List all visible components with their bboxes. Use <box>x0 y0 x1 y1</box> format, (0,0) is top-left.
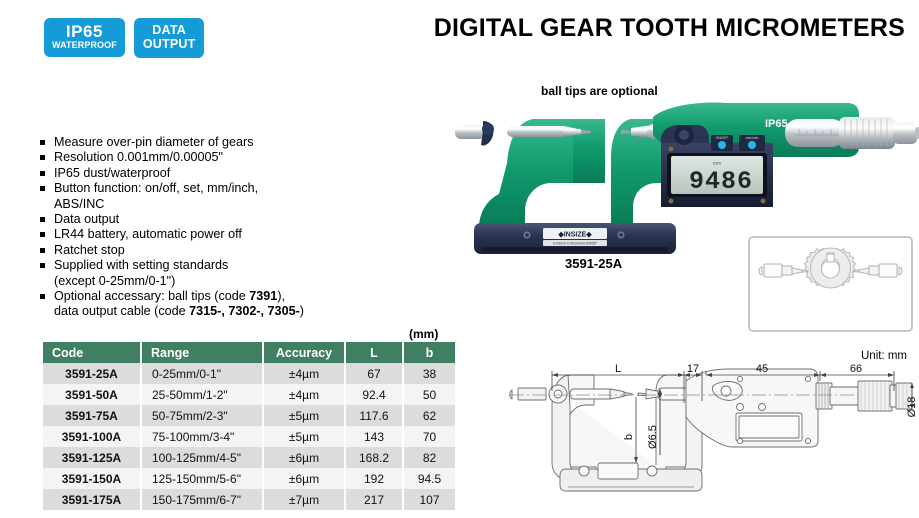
feature-text: Optional accessary: ball tips (code 7391… <box>54 289 285 303</box>
cell-b: 82 <box>403 447 455 468</box>
feature-text: LR44 battery, automatic power off <box>54 227 242 241</box>
page-title: DIGITAL GEAR TOOTH MICROMETERS <box>434 14 905 43</box>
cell-code: 3591-150A <box>43 468 141 489</box>
catalog-page: IP65 WATERPROOF DATA OUTPUT DIGITAL GEAR… <box>0 0 919 513</box>
square-bullet-icon <box>40 186 45 191</box>
list-item: LR44 battery, automatic power off <box>40 227 370 242</box>
cell-accuracy: ±4µm <box>263 363 345 384</box>
cell-accuracy: ±5µm <box>263 405 345 426</box>
cell-l: 92.4 <box>345 384 403 405</box>
feature-list: Measure over-pin diameter of gears Resol… <box>40 135 370 320</box>
ip65-badge: IP65 WATERPROOF <box>44 18 125 57</box>
data-output-badge-line2: OUTPUT <box>143 38 196 52</box>
badge-group: IP65 WATERPROOF DATA OUTPUT <box>44 18 204 58</box>
dim-label-45: 45 <box>756 363 768 375</box>
drawing-unit-label: Unit: mm <box>861 350 907 362</box>
list-item: Resolution 0.001mm/0.00005" <box>40 150 370 165</box>
product-model-label: 3591-25A <box>565 256 622 271</box>
table-row[interactable]: 3591-175A 150-175mm/6-7" ±7µm 217 107 <box>43 489 455 510</box>
feature-text: Button function: on/off, set, mm/inch, <box>54 181 258 195</box>
square-bullet-icon <box>40 140 45 145</box>
cell-range: 75-100mm/3-4" <box>141 426 263 447</box>
table-header-row: Code Range Accuracy L b <box>43 342 455 363</box>
feature-text: Ratchet stop <box>54 243 125 257</box>
table-unit-note: (mm) <box>409 327 438 341</box>
table-row[interactable]: 3591-25A 0-25mm/0-1" ±4µm 67 38 <box>43 363 455 384</box>
square-bullet-icon <box>40 155 45 160</box>
square-bullet-icon <box>40 248 45 253</box>
ip65-badge-subtitle: WATERPROOF <box>52 41 117 51</box>
column-header-l: L <box>345 342 403 363</box>
cell-l: 168.2 <box>345 447 403 468</box>
left-blade <box>507 126 569 137</box>
left-anvil <box>455 125 485 139</box>
cell-accuracy: ±7µm <box>263 489 345 510</box>
feature-text-cont: ABS/INC <box>54 197 370 212</box>
cell-b: 38 <box>403 363 455 384</box>
gear-diagram-svg <box>750 238 911 330</box>
cell-code: 3591-175A <box>43 489 141 510</box>
dim-label-diameter-6-5: Ø6.5 <box>647 425 659 449</box>
table-row[interactable]: 3591-50A 25-50mm/1-2" ±4µm 92.4 50 <box>43 384 455 405</box>
dim-label-diameter-18: Ø18 <box>906 397 918 418</box>
cell-code: 3591-50A <box>43 384 141 405</box>
list-item: Measure over-pin diameter of gears <box>40 135 370 150</box>
cell-b: 70 <box>403 426 455 447</box>
cell-accuracy: ±6µm <box>263 468 345 489</box>
ip65-mark: IP65 <box>765 118 788 130</box>
feature-text: Data output <box>54 212 119 226</box>
gear-icon <box>805 248 856 288</box>
cell-range: 150-175mm/6-7" <box>141 489 263 510</box>
cell-range: 50-75mm/2-3" <box>141 405 263 426</box>
dim-label-b: b <box>623 434 635 440</box>
column-header-b: b <box>403 342 455 363</box>
table-row[interactable]: 3591-100A 75-100mm/3-4" ±5µm 143 70 <box>43 426 455 447</box>
ip65-badge-title: IP65 <box>52 23 117 41</box>
square-bullet-icon <box>40 263 45 268</box>
cell-code: 3591-125A <box>43 447 141 468</box>
square-bullet-icon <box>40 232 45 237</box>
ratchet-stop[interactable] <box>893 122 917 144</box>
list-item: Button function: on/off, set, mm/inch, A… <box>40 181 370 212</box>
gear-application-diagram <box>748 236 913 332</box>
cell-l: 117.6 <box>345 405 403 426</box>
cell-l: 192 <box>345 468 403 489</box>
data-output-badge: DATA OUTPUT <box>134 18 205 58</box>
dim-label-17: 17 <box>687 363 699 375</box>
list-item: Data output <box>40 212 370 227</box>
table-row[interactable]: 3591-125A 100-125mm/4-5" ±6µm 168.2 82 <box>43 447 455 468</box>
list-item: IP65 dust/waterproof <box>40 166 370 181</box>
data-output-badge-line1: DATA <box>143 24 196 38</box>
column-header-range: Range <box>141 342 263 363</box>
product-photo: ◆INSIZE◆ 0-25mm 0.001mm/0.00005" <box>455 95 919 255</box>
dim-label-66: 66 <box>850 363 862 375</box>
feature-text: IP65 dust/waterproof <box>54 166 170 180</box>
cell-l: 67 <box>345 363 403 384</box>
cell-range: 100-125mm/4-5" <box>141 447 263 468</box>
list-item: Supplied with setting standards (except … <box>40 258 370 289</box>
specification-table: Code Range Accuracy L b 3591-25A 0-25mm/… <box>43 342 455 510</box>
cell-code: 3591-25A <box>43 363 141 384</box>
cell-b: 50 <box>403 384 455 405</box>
cell-range: 25-50mm/1-2" <box>141 384 263 405</box>
square-bullet-icon <box>40 171 45 176</box>
cell-b: 107 <box>403 489 455 510</box>
feature-text-cont: data output cable (code 7315-, 7302-, 73… <box>54 304 370 319</box>
cell-accuracy: ±4µm <box>263 384 345 405</box>
dimension-drawing-svg: L 17 45 66 b Ø6.5 Ø18 <box>490 345 919 513</box>
cell-code: 3591-100A <box>43 426 141 447</box>
cell-l: 143 <box>345 426 403 447</box>
lcd-value: 9486 <box>689 167 753 196</box>
square-bullet-icon <box>40 294 45 299</box>
svg-text:mm/inch: mm/inch <box>746 136 759 140</box>
table-row[interactable]: 3591-75A 50-75mm/2-3" ±5µm 117.6 62 <box>43 405 455 426</box>
table-row[interactable]: 3591-150A 125-150mm/5-6" ±6µm 192 94.5 <box>43 468 455 489</box>
cell-range: 125-150mm/5-6" <box>141 468 263 489</box>
cell-l: 217 <box>345 489 403 510</box>
list-item: Optional accessary: ball tips (code 7391… <box>40 289 370 320</box>
list-item: Ratchet stop <box>40 243 370 258</box>
micrometer-illustration: ◆INSIZE◆ 0-25mm 0.001mm/0.00005" <box>455 95 919 255</box>
dim-label-L: L <box>615 363 621 375</box>
brand-text: ◆INSIZE◆ <box>557 232 592 239</box>
feature-text: Supplied with setting standards <box>54 258 228 272</box>
cell-accuracy: ±5µm <box>263 426 345 447</box>
feature-text: Measure over-pin diameter of gears <box>54 135 254 149</box>
dimension-drawing: L 17 45 66 b Ø6.5 Ø18 <box>490 345 919 513</box>
svg-text:ON/OFF: ON/OFF <box>716 136 729 140</box>
feature-text: Resolution 0.001mm/0.00005" <box>54 150 223 164</box>
cell-range: 0-25mm/0-1" <box>141 363 263 384</box>
thimble[interactable] <box>839 117 895 149</box>
cell-accuracy: ±6µm <box>263 447 345 468</box>
cell-code: 3591-75A <box>43 405 141 426</box>
cell-b: 94.5 <box>403 468 455 489</box>
square-bullet-icon <box>40 217 45 222</box>
feature-text-cont: (except 0-25mm/0-1") <box>54 274 370 289</box>
cell-b: 62 <box>403 405 455 426</box>
svg-text:0-25mm 0.001mm/0.00005": 0-25mm 0.001mm/0.00005" <box>553 242 598 246</box>
column-header-code: Code <box>43 342 141 363</box>
column-header-accuracy: Accuracy <box>263 342 345 363</box>
